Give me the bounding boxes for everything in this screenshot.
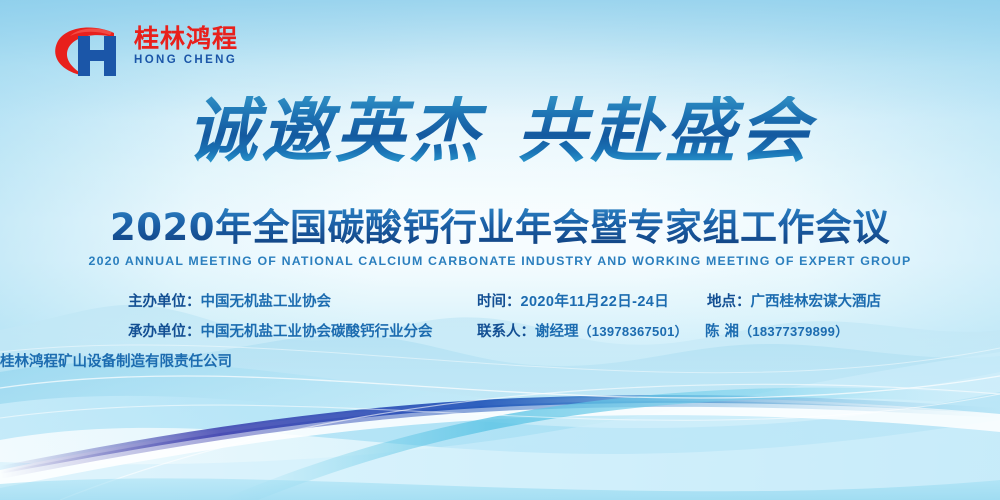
contact-field: 联系人：谢经理（13978367501） — [477, 317, 688, 347]
conference-banner: 桂林鸿程 HONG CHENG 诚邀英杰共赴盛会 2020年全国碳酸钙行业年会暨… — [0, 0, 1000, 500]
logo-brand-en: HONG CHENG — [134, 54, 264, 66]
contact2-phone: （18377379899） — [739, 324, 848, 339]
info-row-1: 主办单位：中国无机盐工业协会 时间：2020年11月22日-24日 地点：广西桂… — [0, 287, 1000, 317]
contact1-name: 谢经理 — [535, 324, 579, 340]
venue-field: 地点：广西桂林宏谋大酒店 — [707, 287, 881, 317]
co-organizer-value: 中国无机盐工业协会碳酸钙行业分会 — [201, 324, 433, 340]
logo-brand-cn: 桂林鸿程 — [134, 26, 264, 52]
contact1-phone: （13978367501） — [579, 324, 688, 339]
co-organizer-label: 承办单位： — [128, 324, 201, 340]
info-row-3: 桂林鸿程矿山设备制造有限责任公司 — [0, 347, 1000, 377]
company-logo[interactable]: 桂林鸿程 HONG CHENG — [52, 22, 262, 84]
time-field: 时间：2020年11月22日-24日 — [477, 287, 669, 317]
time-label: 时间： — [477, 294, 521, 310]
co-organizer-field: 承办单位：中国无机盐工业协会碳酸钙行业分会 — [128, 317, 433, 347]
contact2-field: 陈 湘（18377379899） — [705, 317, 849, 347]
info-row-2: 承办单位：中国无机盐工业协会碳酸钙行业分会 联系人：谢经理（1397836750… — [0, 317, 1000, 347]
organizer-label: 主办单位： — [128, 294, 201, 310]
time-value: 2020年11月22日-24日 — [521, 294, 670, 310]
organizer-field: 主办单位：中国无机盐工业协会 — [128, 287, 331, 317]
contact2-name: 陈 湘 — [705, 324, 739, 340]
event-info-block: 主办单位：中国无机盐工业协会 时间：2020年11月22日-24日 地点：广西桂… — [0, 287, 1000, 377]
logo-wordmark: 桂林鸿程 HONG CHENG — [134, 26, 264, 66]
company-name: 桂林鸿程矿山设备制造有限责任公司 — [0, 354, 232, 370]
hongcheng-swoosh-h-icon — [52, 24, 138, 82]
main-title-part2: 共赴盛会 — [517, 89, 813, 172]
venue-label: 地点： — [707, 294, 751, 310]
contact-label: 联系人： — [477, 324, 535, 340]
subtitle-english: 2020 ANNUAL MEETING OF NATIONAL CALCIUM … — [0, 254, 1000, 268]
subtitle-chinese: 2020年全国碳酸钙行业年会暨专家组工作会议 — [0, 208, 1000, 249]
banner-main-title: 诚邀英杰共赴盛会 — [0, 96, 1000, 166]
main-title-part1: 诚邀英杰 — [187, 89, 483, 172]
organizer-value: 中国无机盐工业协会 — [201, 294, 332, 310]
venue-value: 广西桂林宏谋大酒店 — [751, 294, 882, 310]
